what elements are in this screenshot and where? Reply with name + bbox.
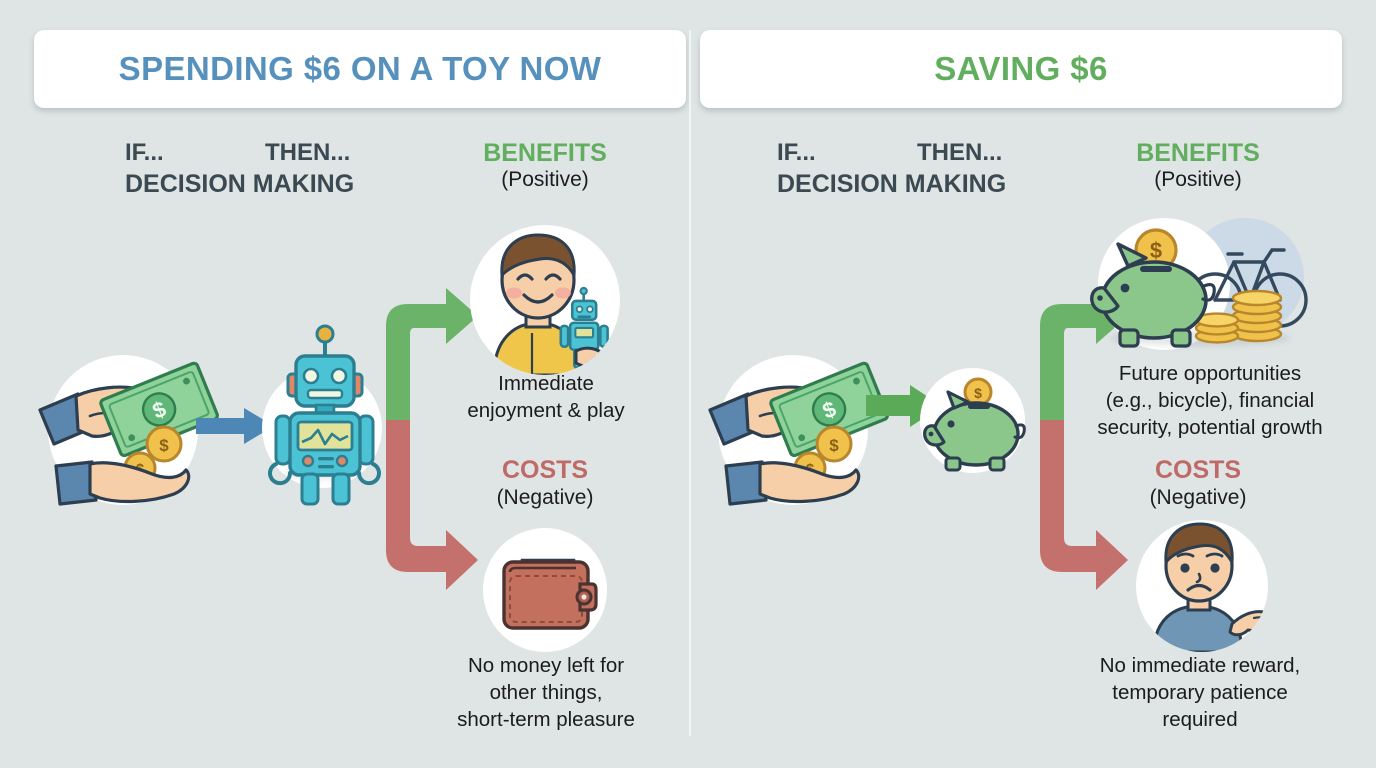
label-benefits-sub-spending: (Positive) [445, 168, 645, 192]
label-then-saving: THEN... [917, 139, 1002, 167]
benefit-caption-saving: Future opportunities (e.g., bicycle), fi… [1080, 360, 1340, 441]
label-benefits-saving: BENEFITS [1098, 139, 1298, 168]
hand-exchanging-money-icon-saving: $ $ $ [700, 350, 895, 515]
panel-divider [689, 30, 691, 736]
label-benefits-sub-saving: (Positive) [1098, 168, 1298, 192]
label-if-saving: IF... [777, 139, 816, 167]
panel-header-saving: SAVING $6 [700, 30, 1342, 108]
svg-text:$: $ [974, 385, 982, 401]
toy-robot-icon [258, 312, 393, 487]
piggy-bank-bicycle-coins-icon: $ [1092, 212, 1310, 352]
label-if-spending: IF... [125, 139, 164, 167]
panel-title-saving: SAVING $6 [934, 50, 1108, 88]
label-benefits-spending: BENEFITS [445, 139, 645, 168]
label-decision-saving: DECISION MAKING [777, 170, 1006, 199]
svg-text:$: $ [1150, 238, 1162, 263]
panel-title-spending: SPENDING $6 ON A TOY NOW [119, 50, 602, 88]
infographic-canvas: SPENDING $6 ON A TOY NOW SAVING $6 IF...… [0, 0, 1376, 768]
happy-boy-with-toy-icon [470, 225, 620, 375]
label-then-spending: THEN... [265, 139, 350, 167]
cost-caption-saving: No immediate reward, temporary patience … [1070, 652, 1330, 733]
panel-header-spending: SPENDING $6 ON A TOY NOW [34, 30, 686, 108]
cost-arrow-saving [1032, 420, 1132, 605]
label-decision-spending: DECISION MAKING [125, 170, 354, 199]
cost-caption-spending: No money left for other things, short-te… [428, 652, 664, 733]
svg-text:$: $ [829, 436, 839, 455]
sad-boy-shrug-icon [1136, 520, 1286, 652]
cost-arrow-spending [378, 420, 483, 605]
piggy-bank-icon: $ [918, 378, 1036, 474]
wallet-icon [496, 546, 600, 638]
svg-text:$: $ [159, 436, 169, 455]
benefit-caption-spending: Immediate enjoyment & play [430, 370, 662, 424]
